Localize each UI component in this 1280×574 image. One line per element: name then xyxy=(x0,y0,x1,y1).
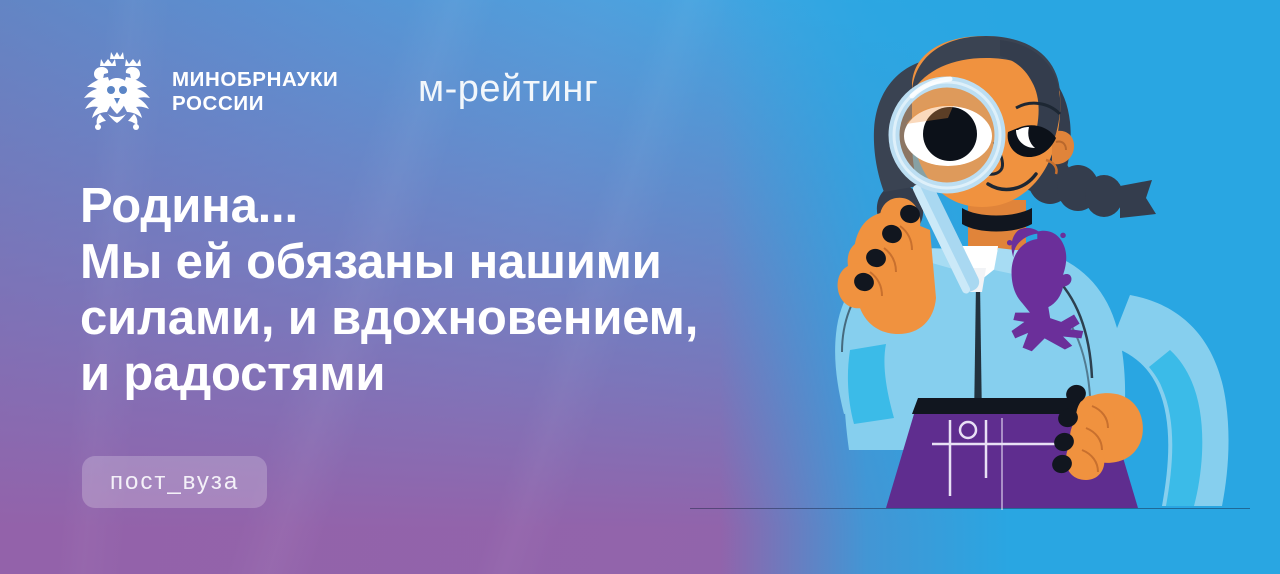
brand-wordmark: м-рейтинг xyxy=(418,68,598,111)
post-tag-badge[interactable]: пост_вуза xyxy=(82,456,267,508)
girl-with-magnifying-glass-illustration xyxy=(700,20,1280,574)
promo-banner: МИНОБРНАУКИ РОССИИ м-рейтинг Родина... М… xyxy=(0,0,1280,574)
double-headed-eagle-emblem-icon xyxy=(78,50,156,134)
ministry-logo-text: МИНОБРНАУКИ РОССИИ xyxy=(172,68,338,116)
post-tag-label: пост_вуза xyxy=(110,468,239,496)
headline-quote: Родина... Мы ей обязаны нашими силами, и… xyxy=(80,178,770,402)
ministry-logo: МИНОБРНАУКИ РОССИИ xyxy=(78,50,338,134)
